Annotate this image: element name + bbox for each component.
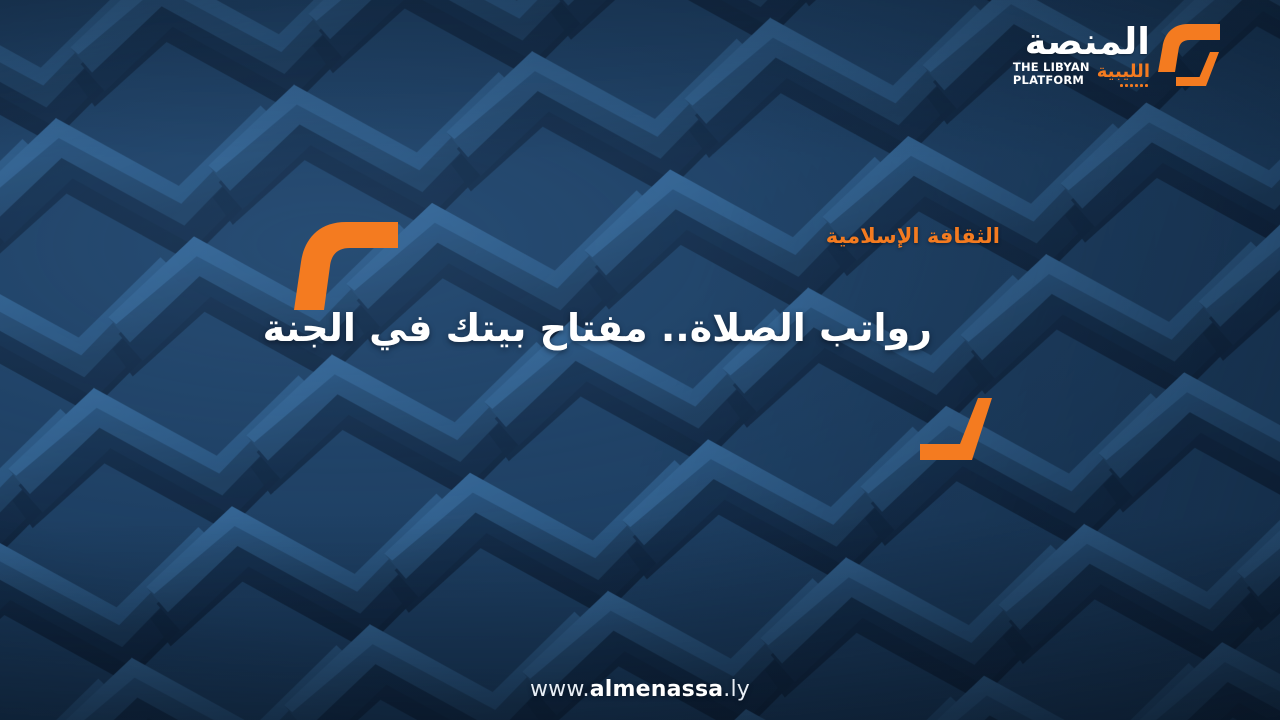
brand-logo-english: THE LIBYAN PLATFORM <box>1013 61 1090 87</box>
brand-logo-wordmark: المنصة THE LIBYAN PLATFORM الليبية <box>1013 22 1150 87</box>
orange-corner-shape <box>920 398 992 460</box>
headline: رواتب الصلاة.. مفتاح بيتك في الجنة <box>263 306 932 350</box>
footer-url-name: almenassa <box>590 677 724 702</box>
brand-logo-arabic-qualifier-group: الليبية <box>1097 63 1150 87</box>
brand-logo-arabic-name: المنصة <box>1025 24 1150 60</box>
poster-canvas: المنصة THE LIBYAN PLATFORM الليبية <box>0 0 1280 720</box>
brand-logo[interactable]: المنصة THE LIBYAN PLATFORM الليبية <box>1013 22 1222 92</box>
brand-logo-english-line1: THE LIBYAN <box>1013 61 1090 73</box>
orange-hook-shape <box>294 222 398 310</box>
category-kicker: الثقافة الإسلامية <box>826 224 1000 248</box>
brand-logo-arabic-qualifier: الليبية <box>1097 63 1150 81</box>
brand-logo-english-line2: PLATFORM <box>1013 74 1084 86</box>
almenassa-logo-mark-icon <box>1158 22 1222 92</box>
brand-logo-subrow: THE LIBYAN PLATFORM الليبية <box>1013 61 1150 87</box>
footer-url-tld: .ly <box>723 677 750 702</box>
footer-url[interactable]: www.almenassa.ly <box>0 677 1280 702</box>
footer-url-prefix: www. <box>530 677 590 702</box>
brand-logo-dots <box>1097 84 1148 87</box>
background-chevron-pattern <box>0 0 1280 720</box>
